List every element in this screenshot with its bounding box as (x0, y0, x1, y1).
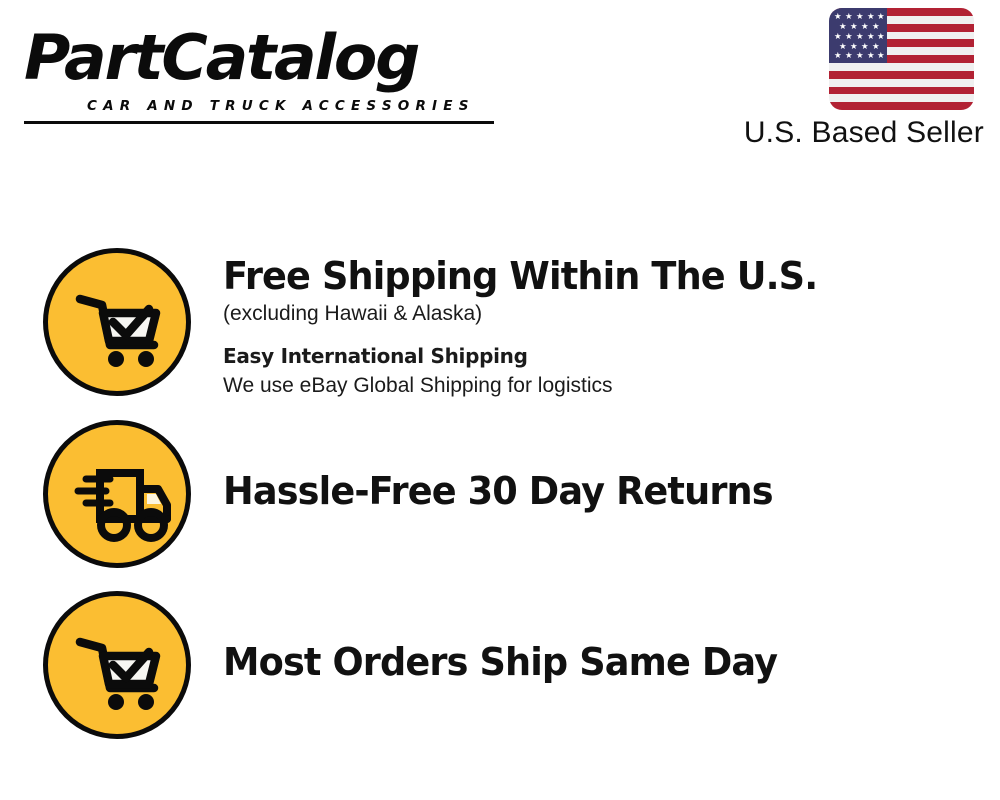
feature-row: Most Orders Ship Same Day (0, 591, 1000, 761)
feature-text-block: Hassle-Free 30 Day Returns (223, 468, 963, 514)
brand-underline-divider (24, 121, 494, 124)
feature-text-block: Free Shipping Within The U.S. (excluding… (223, 253, 963, 401)
brand-wordmark: PartCatalog (24, 22, 418, 94)
delivery-truck-icon (48, 425, 186, 563)
brand-tagline: CAR AND TRUCK ACCESSORIES (87, 98, 475, 114)
feature-list: Free Shipping Within The U.S. (excluding… (0, 180, 1000, 800)
flag-canton: ★ ★ ★ ★ ★ ★ ★ ★ ★ ★ ★ ★ ★ ★ ★ ★ ★ ★ ★ ★ (829, 8, 887, 63)
feature-heading: Free Shipping Within The U.S. (223, 253, 937, 299)
flag-star: ★ (856, 13, 864, 22)
shopping-cart-check-icon (48, 253, 186, 391)
flag-star: ★ (834, 52, 842, 61)
flag-star: ★ (877, 33, 885, 42)
feature-row: Hassle-Free 30 Day Returns (0, 420, 1000, 590)
flag-star: ★ (861, 23, 869, 32)
feature-icon-badge (43, 591, 191, 739)
feature-icon-badge (43, 248, 191, 396)
feature-subtext: We use eBay Global Shipping for logistic… (223, 371, 963, 401)
feature-subtext: (excluding Hawaii & Alaska) (223, 299, 963, 329)
flag-star: ★ (872, 23, 880, 32)
flag-stripe (829, 87, 974, 95)
feature-icon-badge (43, 420, 191, 568)
us-flag-icon: ★ ★ ★ ★ ★ ★ ★ ★ ★ ★ ★ ★ ★ ★ ★ ★ ★ ★ ★ ★ (829, 8, 974, 110)
flag-star: ★ (877, 52, 885, 61)
feature-heading: Hassle-Free 30 Day Returns (223, 468, 937, 514)
flag-star: ★ (839, 23, 847, 32)
brand-logo[interactable]: PartCatalog CAR AND TRUCK ACCESSORIES (24, 22, 494, 114)
flag-star: ★ (845, 13, 853, 22)
flag-star: ★ (867, 13, 875, 22)
flag-stripe (829, 71, 974, 79)
flag-stripe (829, 102, 974, 110)
flag-star: ★ (845, 33, 853, 42)
flag-star: ★ (856, 52, 864, 61)
flag-star: ★ (877, 13, 885, 22)
feature-text-block: Most Orders Ship Same Day (223, 639, 963, 685)
us-based-seller-badge: ★ ★ ★ ★ ★ ★ ★ ★ ★ ★ ★ ★ ★ ★ ★ ★ ★ ★ ★ ★ (718, 8, 988, 158)
page-header: PartCatalog CAR AND TRUCK ACCESSORIES ★ … (0, 0, 1000, 180)
flag-star: ★ (845, 52, 853, 61)
flag-star: ★ (867, 33, 875, 42)
shopping-cart-check-icon (48, 596, 186, 734)
feature-row: Free Shipping Within The U.S. (excluding… (0, 248, 1000, 418)
feature-heading: Most Orders Ship Same Day (223, 639, 937, 685)
flag-star: ★ (856, 33, 864, 42)
flag-star: ★ (834, 13, 842, 22)
flag-star: ★ (867, 52, 875, 61)
flag-star: ★ (850, 23, 858, 32)
feature-subtext-strong: Easy International Shipping (223, 341, 963, 371)
spacer (223, 329, 963, 341)
us-based-seller-label: U.S. Based Seller (744, 116, 984, 150)
flag-star: ★ (834, 33, 842, 42)
